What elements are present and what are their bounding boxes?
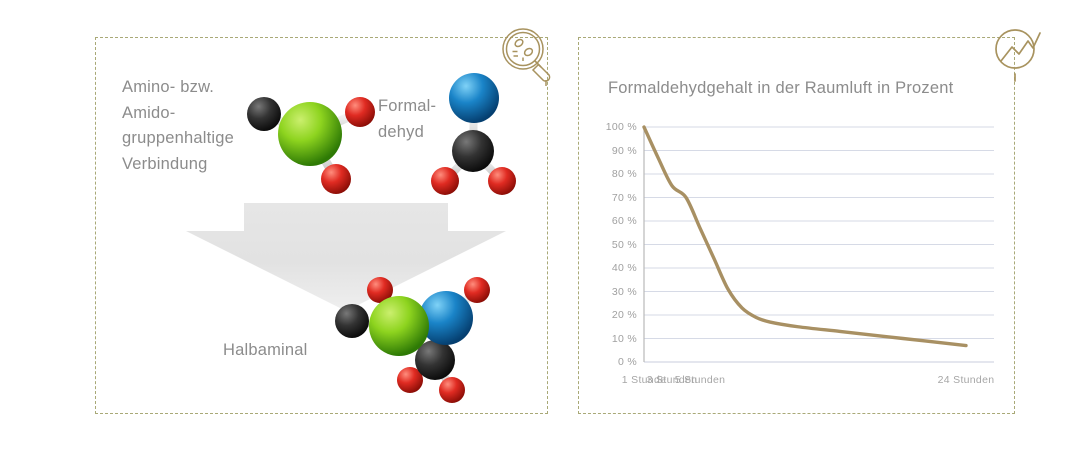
y-axis-tick-label: 80 %	[612, 168, 637, 180]
x-axis-tick-label: 24 Stunden	[938, 374, 995, 386]
formaldehyde-line-chart: Formaldehydgehalt in der Raumluft in Pro…	[578, 37, 1015, 414]
chart-title: Formaldehydgehalt in der Raumluft in Pro…	[608, 79, 953, 98]
chart-svg	[600, 122, 1000, 404]
x-axis-tick-label: 5 Stunden	[675, 374, 726, 386]
amino-compound-molecule	[238, 72, 380, 194]
y-axis-tick-label: 40 %	[612, 262, 637, 274]
y-axis-tick-label: 50 %	[612, 239, 637, 251]
chart-plot-area: 100 %90 %80 %70 %60 %50 %40 %30 %20 %10 …	[600, 122, 1000, 404]
y-axis-tick-label: 90 %	[612, 145, 637, 157]
formaldehyde-molecule	[428, 68, 520, 192]
y-axis-tick-label: 70 %	[612, 192, 637, 204]
y-axis-tick-label: 10 %	[612, 333, 637, 345]
halbaminal-molecule	[322, 268, 506, 402]
y-axis-tick-label: 30 %	[612, 286, 637, 298]
y-axis-tick-label: 0 %	[618, 356, 637, 368]
chart-series-line	[644, 127, 966, 346]
y-axis-tick-label: 60 %	[612, 215, 637, 227]
y-axis-tick-label: 20 %	[612, 309, 637, 321]
y-axis-tick-label: 100 %	[606, 121, 637, 133]
